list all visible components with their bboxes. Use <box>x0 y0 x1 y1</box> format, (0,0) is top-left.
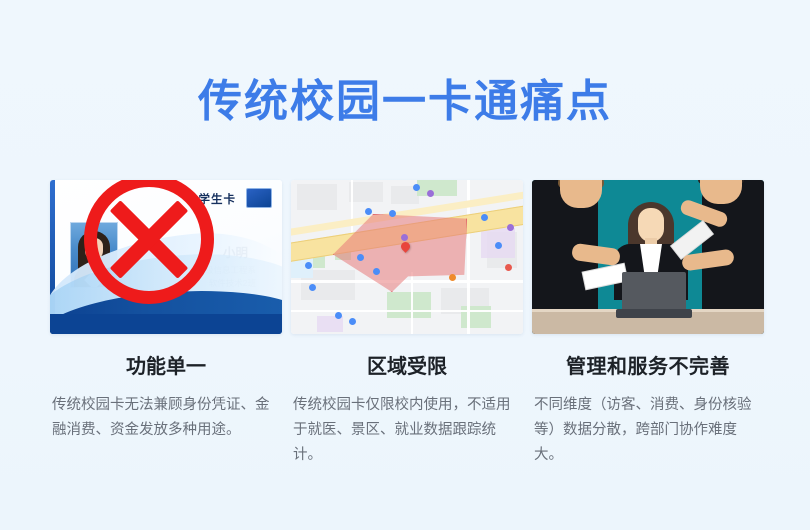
pain-point-body-3: 不同维度（访客、消费、身份核验等）数据分散，跨部门协作难度大。 <box>532 393 764 468</box>
page-title: 传统校园一卡通痛点 <box>0 74 810 130</box>
map-poi-dot <box>309 284 316 291</box>
map-poi-dot <box>357 254 364 261</box>
map-road <box>411 272 413 334</box>
map-poi-dot <box>305 262 312 269</box>
map-poi-dot <box>349 318 356 325</box>
map-poi-dot <box>413 184 420 191</box>
center-person-face <box>638 208 664 242</box>
map-poi-dot <box>495 242 502 249</box>
map-poi-dot <box>401 234 408 241</box>
pain-point-heading-3: 管理和服务不完善 <box>532 354 764 380</box>
map-road <box>291 280 523 283</box>
pain-point-column-2: 区域受限 传统校园卡仅限校内使用，不适用于就医、景区、就业数据跟踪统计。 <box>291 180 523 468</box>
map-poi-dot <box>427 190 434 197</box>
map-poi-dot <box>365 208 372 215</box>
map-road <box>291 310 523 312</box>
map-poi-dot <box>505 264 512 271</box>
pain-point-heading-2: 区域受限 <box>291 354 523 380</box>
map-road <box>351 180 353 240</box>
student-card-illustration: 学生卡 小明 23级信息工程系 软件技术2班 <box>50 180 282 334</box>
pain-point-columns: 学生卡 小明 23级信息工程系 软件技术2班 <box>50 180 764 468</box>
map-illustration <box>291 180 523 334</box>
card-chip-icon <box>246 188 272 208</box>
laptop-screen <box>622 272 686 310</box>
pain-point-heading-1: 功能单一 <box>50 354 282 380</box>
office-illustration <box>532 180 764 334</box>
map-poi-dot <box>373 268 380 275</box>
poster-page: 传统校园一卡通痛点 学生卡 小明 23级信息工程系 <box>0 0 810 530</box>
office-illustration-image <box>532 180 764 334</box>
map-park <box>387 292 431 318</box>
map-park <box>417 180 457 196</box>
pain-point-body-2: 传统校园卡仅限校内使用，不适用于就医、景区、就业数据跟踪统计。 <box>291 393 523 468</box>
map-poi-dot <box>481 214 488 221</box>
student-card-image: 学生卡 小明 23级信息工程系 软件技术2班 <box>50 180 282 334</box>
map-poi-dot <box>335 312 342 319</box>
pain-point-column-1: 学生卡 小明 23级信息工程系 软件技术2班 <box>50 180 282 468</box>
map-block <box>297 184 337 210</box>
map-poi-dot <box>389 210 396 217</box>
map-poi-dot <box>507 224 514 231</box>
prohibition-cross-icon <box>84 180 214 304</box>
map-image <box>291 180 523 334</box>
laptop-base <box>616 309 692 318</box>
map-poi-dot <box>449 274 456 281</box>
card-bottom-band <box>50 314 282 334</box>
pain-point-body-1: 传统校园卡无法兼顾身份凭证、金融消费、资金发放多种用途。 <box>50 393 282 443</box>
pain-point-column-3: 管理和服务不完善 不同维度（访客、消费、身份核验等）数据分散，跨部门协作难度大。 <box>532 180 764 468</box>
map-block <box>349 182 383 202</box>
